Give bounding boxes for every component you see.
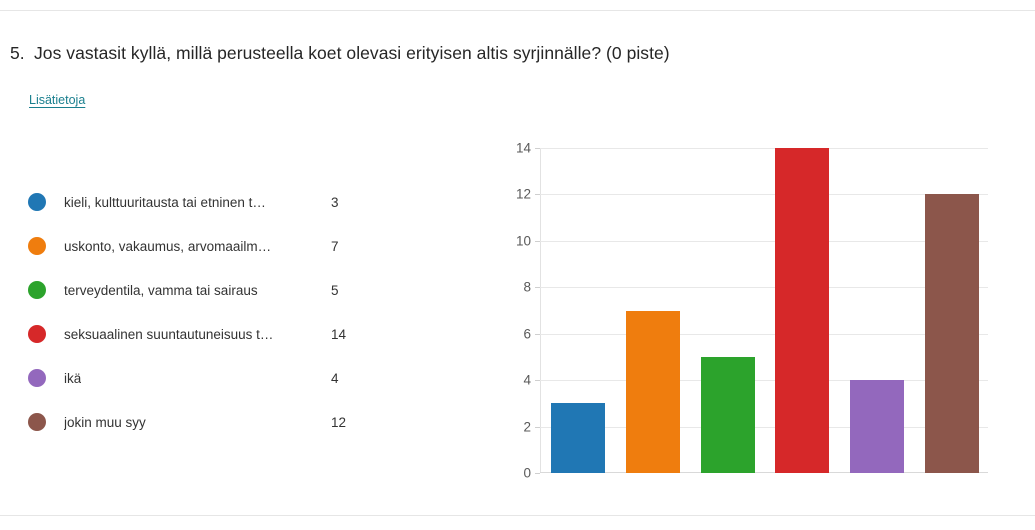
- bar[interactable]: [551, 403, 605, 473]
- y-tick-mark: [535, 148, 540, 149]
- y-tick-label: 14: [495, 141, 531, 156]
- question-number: 5.: [10, 43, 34, 64]
- y-tick-mark: [535, 241, 540, 242]
- question-header: 5. Jos vastasit kyllä, millä perusteella…: [10, 43, 670, 64]
- legend-color-dot-2: [28, 237, 46, 255]
- more-info-link[interactable]: Lisätietoja: [29, 93, 85, 107]
- bar[interactable]: [701, 357, 755, 473]
- legend-value: 14: [331, 327, 346, 342]
- y-tick-label: 2: [495, 419, 531, 434]
- list-item[interactable]: seksuaalinen suuntautuneisuus t… 14: [28, 312, 368, 356]
- y-tick-label: 0: [495, 466, 531, 481]
- legend-value: 4: [331, 371, 339, 386]
- legend-label: ikä: [64, 371, 81, 386]
- y-tick-label: 12: [495, 187, 531, 202]
- legend-value: 7: [331, 239, 339, 254]
- y-tick-mark: [535, 287, 540, 288]
- y-tick-mark: [535, 380, 540, 381]
- y-tick-mark: [535, 334, 540, 335]
- page-title: Jos vastasit kyllä, millä perusteella ko…: [34, 43, 670, 64]
- y-tick-label: 10: [495, 233, 531, 248]
- legend-color-dot-1: [28, 193, 46, 211]
- y-tick-label: 8: [495, 280, 531, 295]
- legend-label: jokin muu syy: [64, 415, 146, 430]
- bars-group: [540, 148, 988, 473]
- y-tick-mark: [535, 427, 540, 428]
- list-item[interactable]: uskonto, vakaumus, arvomaailm… 7: [28, 224, 368, 268]
- y-tick-mark: [535, 473, 540, 474]
- bar[interactable]: [850, 380, 904, 473]
- legend-value: 12: [331, 415, 346, 430]
- legend-color-dot-3: [28, 281, 46, 299]
- chart-legend: kieli, kulttuuritausta tai etninen t… 3 …: [28, 180, 368, 444]
- list-item[interactable]: ikä 4: [28, 356, 368, 400]
- legend-value: 3: [331, 195, 339, 210]
- legend-label: terveydentila, vamma tai sairaus: [64, 283, 258, 298]
- plot-area: [540, 148, 988, 473]
- survey-question-panel: 5. Jos vastasit kyllä, millä perusteella…: [0, 0, 1035, 530]
- bottom-divider: [0, 515, 1035, 516]
- y-tick-label: 4: [495, 373, 531, 388]
- legend-color-dot-5: [28, 369, 46, 387]
- legend-label: kieli, kulttuuritausta tai etninen t…: [64, 195, 266, 210]
- list-item[interactable]: jokin muu syy 12: [28, 400, 368, 444]
- legend-label: uskonto, vakaumus, arvomaailm…: [64, 239, 271, 254]
- y-tick-mark: [535, 194, 540, 195]
- top-divider: [0, 10, 1035, 11]
- bar[interactable]: [626, 311, 680, 474]
- bar[interactable]: [775, 148, 829, 473]
- legend-color-dot-4: [28, 325, 46, 343]
- list-item[interactable]: terveydentila, vamma tai sairaus 5: [28, 268, 368, 312]
- list-item[interactable]: kieli, kulttuuritausta tai etninen t… 3: [28, 180, 368, 224]
- legend-value: 5: [331, 283, 339, 298]
- y-tick-label: 6: [495, 326, 531, 341]
- bar-chart: 02468101214: [495, 130, 1005, 495]
- legend-label: seksuaalinen suuntautuneisuus t…: [64, 327, 273, 342]
- legend-color-dot-6: [28, 413, 46, 431]
- bar[interactable]: [925, 194, 979, 473]
